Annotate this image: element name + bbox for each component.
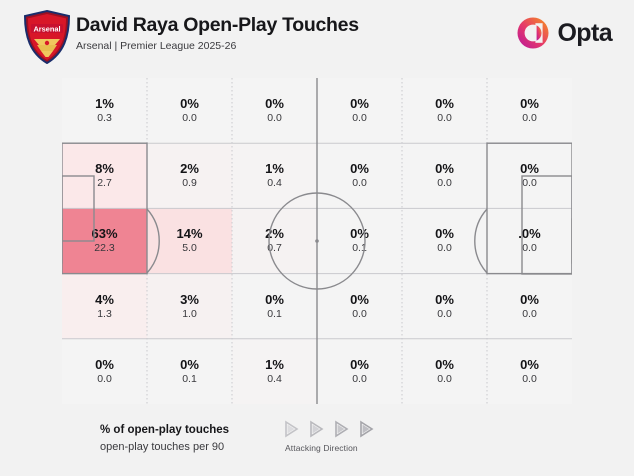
heatmap-cell: 8%2.7 xyxy=(62,143,147,208)
cell-percent: 0% xyxy=(520,292,539,307)
heatmap-cell: 2%0.9 xyxy=(147,143,232,208)
heatmap-cell: 0%0.0 xyxy=(487,78,572,143)
heatmap-cell: 0%0.0 xyxy=(402,208,487,273)
cell-percent: 2% xyxy=(265,226,284,241)
heatmap-cell: 0%0.1 xyxy=(147,339,232,404)
cell-per90: 0.1 xyxy=(352,242,367,255)
cell-per90: 0.0 xyxy=(522,373,537,386)
cell-percent: 0% xyxy=(435,357,454,372)
cell-percent: 0% xyxy=(265,292,284,307)
cell-percent: 4% xyxy=(95,292,114,307)
cell-per90: 0.0 xyxy=(522,177,537,190)
heatmap-cell: 14%5.0 xyxy=(147,208,232,273)
cell-per90: 0.7 xyxy=(267,242,282,255)
cell-percent: 0% xyxy=(350,161,369,176)
pitch-heatmap: 1%0.30%0.00%0.00%0.00%0.00%0.08%2.72%0.9… xyxy=(62,78,572,404)
cell-percent: 1% xyxy=(95,96,114,111)
heatmap-cell: 0%0.0 xyxy=(487,274,572,339)
cell-percent: 2% xyxy=(180,161,199,176)
attacking-direction: Attacking Direction xyxy=(283,420,413,453)
cell-percent: 0% xyxy=(350,357,369,372)
cell-per90: 0.0 xyxy=(522,308,537,321)
heatmap-cell: 1%0.3 xyxy=(62,78,147,143)
heatmap-grid: 1%0.30%0.00%0.00%0.00%0.00%0.08%2.72%0.9… xyxy=(62,78,572,404)
heatmap-cell: 4%1.3 xyxy=(62,274,147,339)
chart-footer: % of open-play touches open-play touches… xyxy=(0,404,634,476)
cell-percent: 3% xyxy=(180,292,199,307)
svg-text:Arsenal: Arsenal xyxy=(33,24,60,33)
opta-wordmark: Opta xyxy=(557,18,612,48)
cell-per90: 0.3 xyxy=(97,112,112,125)
cell-percent: 0% xyxy=(265,96,284,111)
cell-percent: 1% xyxy=(265,357,284,372)
heatmap-cell: 0%0.0 xyxy=(402,274,487,339)
legend-secondary-label: open-play touches per 90 xyxy=(100,439,229,455)
legend: % of open-play touches open-play touches… xyxy=(100,422,229,455)
heatmap-cell: 2%0.7 xyxy=(232,208,317,273)
cell-percent: 0% xyxy=(520,96,539,111)
heatmap-cell: 1%0.4 xyxy=(232,339,317,404)
cell-per90: 0.9 xyxy=(182,177,197,190)
cell-percent: 0% xyxy=(95,357,114,372)
opta-logo-icon xyxy=(516,16,550,50)
cell-per90: 0.0 xyxy=(437,177,452,190)
cell-per90: 0.0 xyxy=(352,308,367,321)
heatmap-cell: 63%22.3 xyxy=(62,208,147,273)
play-triangle-arrow-icon xyxy=(283,420,300,438)
chart-subtitle: Arsenal | Premier League 2025-26 xyxy=(76,39,359,54)
cell-percent: 0% xyxy=(350,96,369,111)
chart-header: Arsenal David Raya Open-Play Touches Ars… xyxy=(0,0,634,72)
heatmap-cell: 0%0.0 xyxy=(317,78,402,143)
cell-percent: 0% xyxy=(435,226,454,241)
heatmap-cell: 3%1.0 xyxy=(147,274,232,339)
cell-percent: 63% xyxy=(91,226,117,241)
direction-arrows xyxy=(283,420,413,438)
cell-per90: 2.7 xyxy=(97,177,112,190)
heatmap-cell: 0%0.0 xyxy=(317,274,402,339)
cell-per90: 22.3 xyxy=(94,242,114,255)
cell-percent: 14% xyxy=(176,226,202,241)
cell-per90: 0.0 xyxy=(352,373,367,386)
heatmap-cell: 0%0.0 xyxy=(402,78,487,143)
cell-per90: 0.0 xyxy=(352,177,367,190)
cell-percent: 0% xyxy=(350,292,369,307)
cell-per90: 0.0 xyxy=(352,112,367,125)
cell-percent: 0% xyxy=(435,292,454,307)
legend-primary-label: % of open-play touches xyxy=(100,422,229,438)
arsenal-crest-icon: Arsenal xyxy=(22,10,72,64)
attacking-direction-label: Attacking Direction xyxy=(283,443,413,453)
cell-percent: 0% xyxy=(350,226,369,241)
heatmap-cell: 0%0.0 xyxy=(62,339,147,404)
cell-per90: 0.4 xyxy=(267,177,282,190)
heatmap-cell: 0%0.0 xyxy=(232,78,317,143)
heatmap-cell: .0%0.0 xyxy=(487,208,572,273)
cell-per90: 0.0 xyxy=(267,112,282,125)
cell-per90: 0.0 xyxy=(522,242,537,255)
opta-branding: Opta xyxy=(516,16,612,50)
cell-percent: 0% xyxy=(180,96,199,111)
cell-percent: 0% xyxy=(435,96,454,111)
cell-per90: 5.0 xyxy=(182,242,197,255)
title-block: David Raya Open-Play Touches Arsenal | P… xyxy=(76,12,359,54)
cell-per90: 0.0 xyxy=(522,112,537,125)
heatmap-cell: 0%0.0 xyxy=(487,143,572,208)
cell-per90: 1.3 xyxy=(97,308,112,321)
cell-per90: 0.0 xyxy=(437,242,452,255)
cell-per90: 0.0 xyxy=(182,112,197,125)
cell-per90: 1.0 xyxy=(182,308,197,321)
heatmap-cell: 1%0.4 xyxy=(232,143,317,208)
heatmap-cell: 0%0.0 xyxy=(317,143,402,208)
cell-percent: 0% xyxy=(435,161,454,176)
play-triangle-arrow-icon xyxy=(358,420,375,438)
cell-percent: 8% xyxy=(95,161,114,176)
cell-per90: 0.0 xyxy=(97,373,112,386)
heatmap-cell: 0%0.0 xyxy=(402,143,487,208)
cell-per90: 0.1 xyxy=(267,308,282,321)
heatmap-cell: 0%0.0 xyxy=(317,339,402,404)
cell-per90: 0.1 xyxy=(182,373,197,386)
cell-per90: 0.0 xyxy=(437,373,452,386)
cell-percent: 0% xyxy=(520,357,539,372)
heatmap-cell: 0%0.1 xyxy=(317,208,402,273)
cell-per90: 0.0 xyxy=(437,308,452,321)
cell-percent: 0% xyxy=(520,161,539,176)
cell-per90: 0.0 xyxy=(437,112,452,125)
heatmap-cell: 0%0.1 xyxy=(232,274,317,339)
cell-percent: .0% xyxy=(518,226,540,241)
heatmap-cell: 0%0.0 xyxy=(147,78,232,143)
heatmap-cell: 0%0.0 xyxy=(402,339,487,404)
heatmap-cell: 0%0.0 xyxy=(487,339,572,404)
cell-percent: 1% xyxy=(265,161,284,176)
cell-per90: 0.4 xyxy=(267,373,282,386)
cell-percent: 0% xyxy=(180,357,199,372)
play-triangle-arrow-icon xyxy=(308,420,325,438)
page-title: David Raya Open-Play Touches xyxy=(76,12,359,38)
play-triangle-arrow-icon xyxy=(333,420,350,438)
